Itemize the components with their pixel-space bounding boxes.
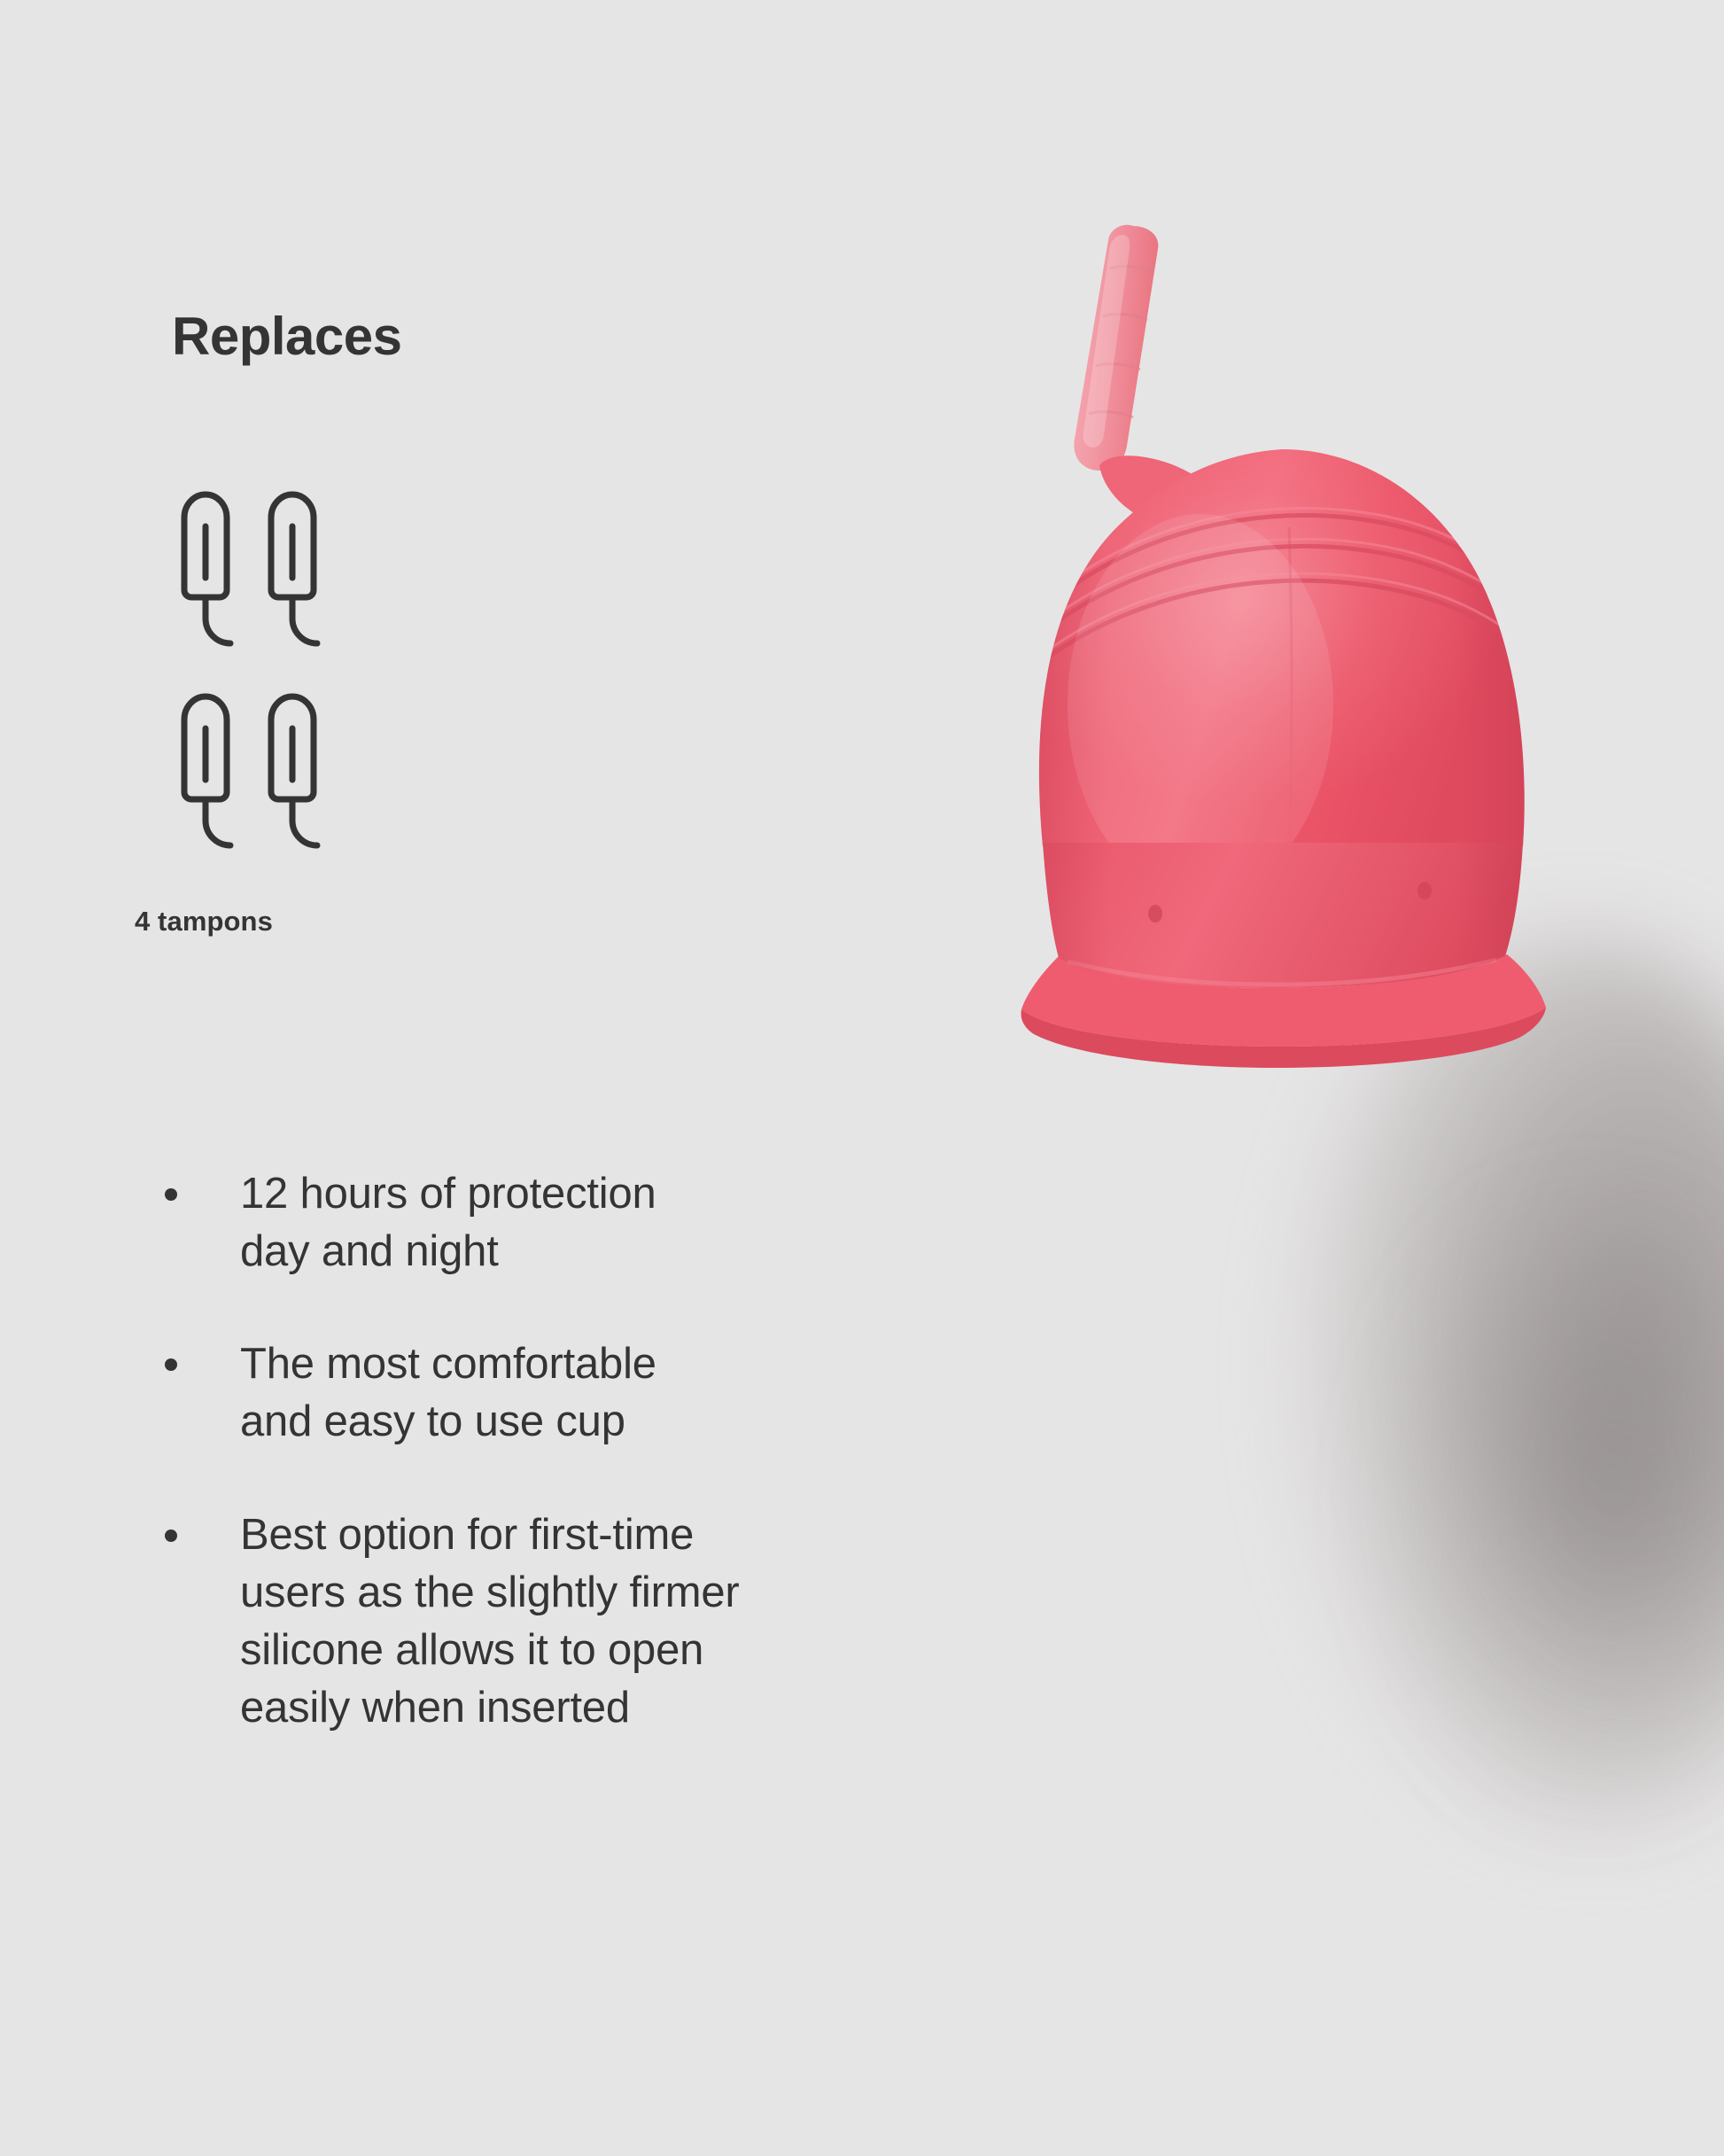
bullet-dot-icon (165, 1529, 177, 1542)
list-item-label: Best option for first-time users as the … (240, 1506, 1051, 1738)
tampon-icon (253, 688, 338, 852)
list-item: 12 hours of protection day and night (165, 1165, 1051, 1280)
backdrop-shadow-secondary (1405, 1223, 1724, 1790)
feature-list: 12 hours of protection day and night The… (165, 1165, 1051, 1792)
tampon-icon (167, 486, 252, 650)
menstrual-cup-image (935, 173, 1608, 1165)
product-feature-card: Replaces (0, 0, 1724, 2156)
page-title: Replaces (172, 310, 402, 363)
tampon-icon (167, 688, 252, 852)
tampon-icon (253, 486, 338, 650)
list-item-label: 12 hours of protection day and night (240, 1165, 1051, 1280)
tampon-count-label: 4 tampons (135, 906, 273, 938)
bullet-dot-icon (165, 1188, 177, 1201)
cup-rim (1021, 843, 1546, 1068)
cup-body (1039, 449, 1544, 895)
list-item: Best option for first-time users as the … (165, 1506, 1051, 1738)
bullet-dot-icon (165, 1358, 177, 1371)
tampon-icon-grid (167, 486, 344, 849)
list-item-label: The most comfortable and easy to use cup (240, 1335, 1051, 1451)
list-item: The most comfortable and easy to use cup (165, 1335, 1051, 1451)
